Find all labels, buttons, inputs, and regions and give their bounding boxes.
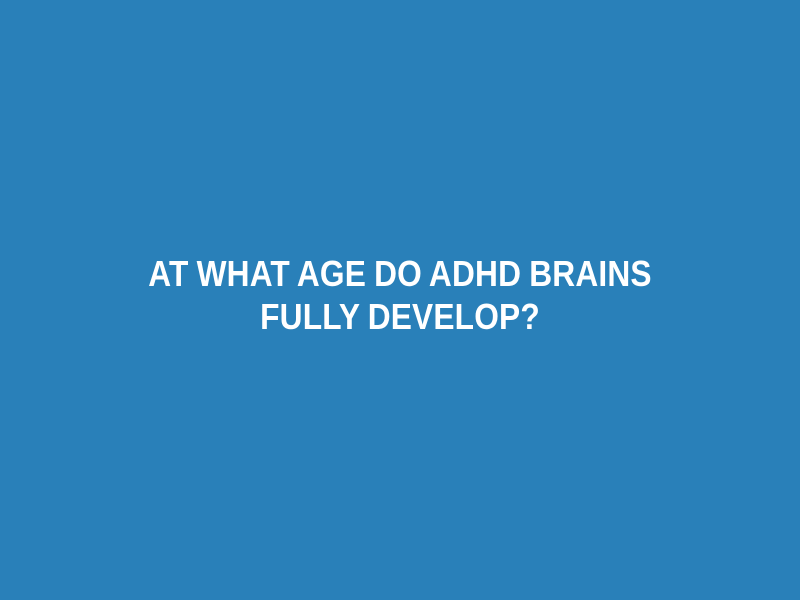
hero-card: AT WHAT AGE DO ADHD BRAINS FULLY DEVELOP…: [0, 0, 800, 600]
page-title: AT WHAT AGE DO ADHD BRAINS FULLY DEVELOP…: [110, 252, 691, 338]
headline-block: AT WHAT AGE DO ADHD BRAINS FULLY DEVELOP…: [70, 252, 730, 338]
